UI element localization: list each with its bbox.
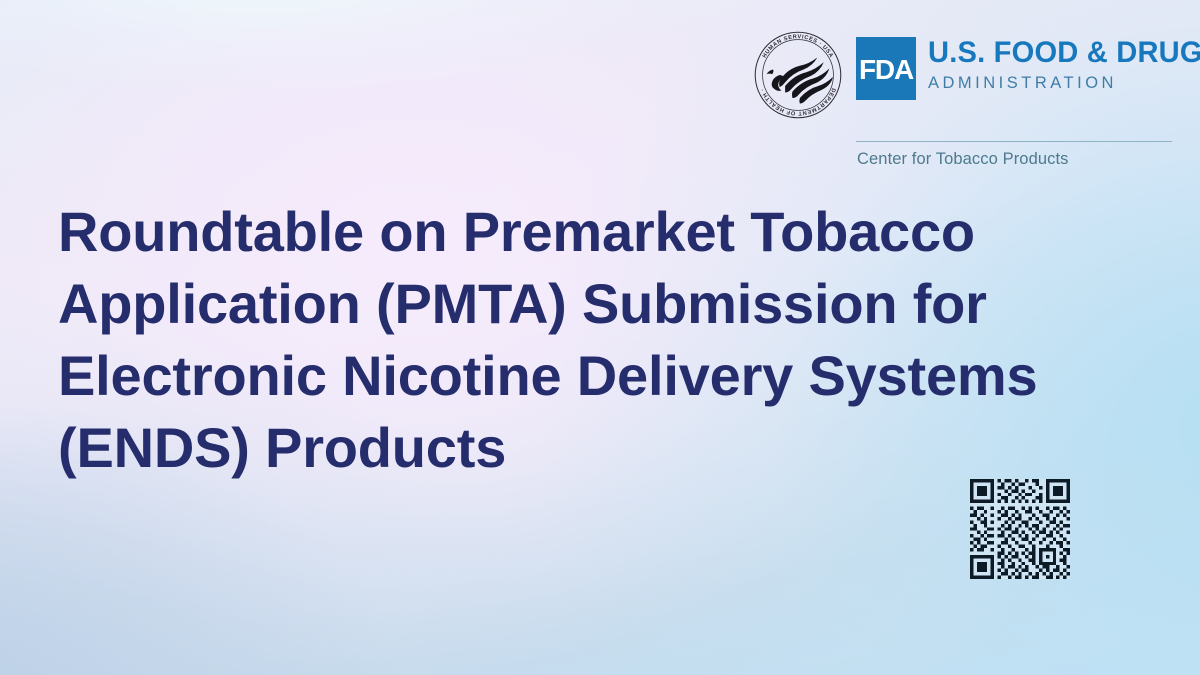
fda-logo-lockup: HUMAN SERVICES · USA DEPARTMENT OF HEALT… — [752, 24, 1172, 154]
hhs-seal-icon: HUMAN SERVICES · USA DEPARTMENT OF HEALT… — [752, 29, 844, 121]
center-for-tobacco-products-label: Center for Tobacco Products — [857, 150, 1069, 169]
fda-agency-name-line2: ADMINISTRATION — [928, 75, 1200, 92]
fda-mark-icon: FDA — [856, 37, 916, 100]
presentation-slide: HUMAN SERVICES · USA DEPARTMENT OF HEALT… — [0, 0, 1200, 675]
fda-agency-name-line1: U.S. FOOD & DRUG — [928, 38, 1200, 68]
svg-text:HUMAN SERVICES · USA: HUMAN SERVICES · USA — [762, 34, 834, 59]
fda-wordmark: FDA U.S. FOOD & DRUG ADMINISTRATION — [856, 24, 1200, 124]
page-title: Roundtable on Premarket Tobacco Applicat… — [58, 196, 1088, 484]
svg-text:FDA: FDA — [859, 54, 914, 85]
header-divider — [856, 141, 1172, 142]
qr-code[interactable] — [964, 479, 1076, 579]
